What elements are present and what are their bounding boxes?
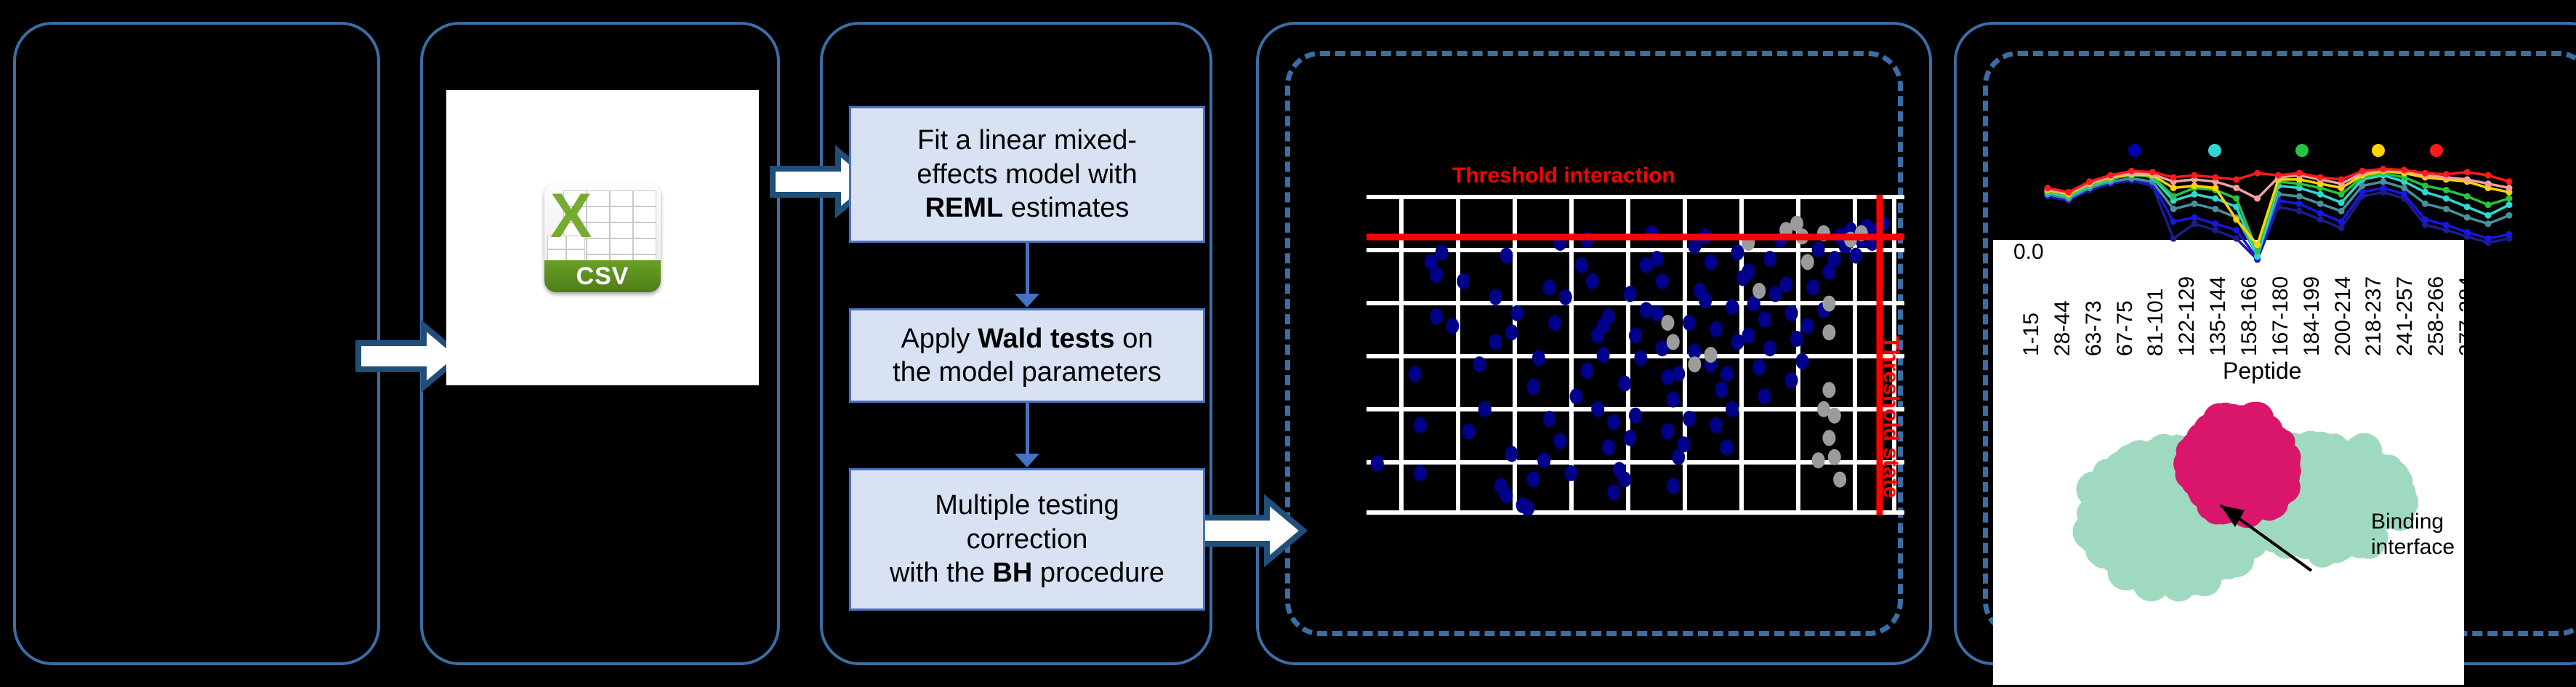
scatter-point [1656, 273, 1669, 289]
scatter-point [1801, 318, 1814, 334]
scatter-point [1822, 430, 1835, 446]
peptide-tick-label: 122-129 [2175, 276, 2199, 356]
scatter-point [1752, 283, 1766, 299]
peptide-series-marker [2212, 196, 2218, 202]
peptide-series-marker [2191, 214, 2198, 221]
peptide-series-marker [2317, 191, 2324, 198]
scatter-point [1758, 388, 1771, 404]
scatter-point [1526, 472, 1539, 488]
peptide-series-marker [2443, 222, 2450, 228]
scatter-point [1500, 488, 1513, 504]
step-box-bh-text: Multiple testingcorrectionwith the BH pr… [890, 489, 1164, 590]
peptide-series-marker [2338, 176, 2345, 182]
peptide-series-marker [2191, 220, 2198, 227]
peptide-series-marker [2296, 201, 2303, 207]
protein-surface-blob [2130, 558, 2154, 581]
scatter-point [1699, 292, 1712, 308]
peptide-series-marker [2401, 191, 2407, 198]
protein-surface-blob [2196, 414, 2218, 437]
binding-interface-line2: interface [2371, 534, 2455, 560]
scatter-point [1790, 331, 1803, 347]
scatter-point [1742, 328, 1755, 344]
peptide-tick-label: 67-75 [2113, 300, 2138, 356]
peptide-series-marker [2506, 196, 2513, 202]
peptide-series-marker [2338, 208, 2345, 214]
scatter-point [1667, 334, 1680, 350]
peptide-series-marker [2464, 176, 2471, 182]
scatter-point [1489, 334, 1502, 350]
protein-surface-blob [2375, 455, 2402, 482]
scatter-point [1543, 280, 1556, 296]
scatter-point [1548, 315, 1561, 331]
peptide-legend-dot [2128, 144, 2141, 157]
scatter-point [1667, 392, 1680, 408]
peptide-legend-dot [2208, 144, 2221, 157]
threshold-scatter-chart [1367, 195, 1904, 515]
scatter-point [1828, 449, 1841, 465]
peptide-series-marker [2212, 185, 2218, 191]
scatter-point [1409, 366, 1422, 382]
peptide-series-marker [2254, 248, 2261, 254]
peptide-tick-label: 200-214 [2331, 276, 2356, 356]
peptide-series-marker [2275, 172, 2282, 179]
peptide-tick-label: 135-144 [2206, 276, 2231, 356]
peptide-series-marker [2422, 201, 2428, 207]
scatter-point [1683, 315, 1696, 331]
binding-interface-line1: Binding [2371, 509, 2455, 534]
step-box-wald[interactable]: Apply Wald tests onthe model parameters [849, 308, 1205, 403]
peptide-series-marker [2212, 174, 2218, 181]
csv-icon: X CSV [544, 183, 661, 292]
peptide-series-marker [2359, 168, 2366, 174]
peptide-series-marker [2443, 171, 2450, 177]
binding-interface-label: Binding interface [2371, 509, 2455, 561]
peptide-series-marker [2170, 236, 2177, 242]
peptide-tick-label: 218-237 [2362, 276, 2386, 356]
peptide-series-marker [2317, 217, 2324, 223]
protein-surface-blob [2226, 425, 2253, 451]
scatter-point [1726, 401, 1739, 417]
peptide-series-marker [2422, 217, 2428, 223]
peptide-series-marker [2191, 182, 2198, 189]
peptide-y-tick-label: 0.0 [2013, 240, 2044, 265]
protein-surface-blob [2107, 493, 2141, 527]
scatter-point [1618, 472, 1631, 488]
scatter-point [1564, 465, 1577, 481]
scatter-point [1715, 382, 1728, 398]
peptide-series-marker [2317, 210, 2324, 217]
scatter-point [1446, 318, 1459, 334]
peptide-legend-dot [2430, 144, 2443, 157]
protein-surface-blob [2247, 497, 2270, 519]
scatter-point [1430, 267, 1443, 283]
peptide-series-marker [2443, 187, 2450, 193]
peptide-series-marker [2233, 236, 2239, 242]
peptide-series-marker [2485, 220, 2492, 227]
peptide-series-marker [2443, 196, 2450, 202]
scatter-point [1570, 388, 1583, 404]
scatter-point [1553, 433, 1566, 449]
scatter-point [1688, 238, 1701, 254]
peptide-series-marker [2338, 225, 2345, 231]
scatter-point [1661, 424, 1674, 440]
peptide-series-marker [2170, 206, 2177, 212]
scatter-point [1704, 254, 1718, 270]
protein-surface-blob [2073, 513, 2110, 550]
scatter-point [1457, 273, 1470, 289]
peptide-series-marker [2338, 199, 2345, 206]
threshold-state-label: Threshold state [1878, 336, 1903, 498]
peptide-uptake-chart [2000, 142, 2524, 265]
scatter-point [1586, 273, 1599, 289]
scatter-point [1822, 324, 1835, 340]
protein-surface-blob [2093, 473, 2118, 497]
peptide-series-marker [2485, 236, 2492, 242]
peptide-series-marker [2338, 218, 2345, 225]
peptide-series-marker [2380, 185, 2386, 191]
peptide-series-marker [2401, 185, 2407, 191]
peptide-series-marker [2107, 172, 2114, 179]
peptide-series-marker [2191, 201, 2198, 207]
scatter-point [1822, 382, 1835, 398]
scatter-point [1720, 440, 1734, 456]
peptide-tick-label: 81-101 [2144, 289, 2168, 356]
scatter-point [1688, 356, 1701, 372]
peptide-tick-label: 1-15 [2019, 313, 2044, 356]
scatter-point [1607, 414, 1620, 430]
step-box-bh[interactable]: Multiple testingcorrectionwith the BH pr… [849, 468, 1205, 611]
scatter-point [1505, 446, 1518, 462]
peptide-series-marker [2065, 189, 2072, 196]
csv-badge: CSV [544, 260, 661, 292]
peptide-series-marker [2254, 196, 2261, 202]
scatter-point [1607, 484, 1620, 500]
peptide-legend-dot [2372, 144, 2385, 157]
peptide-series-marker [2254, 170, 2261, 177]
peptide-tick-label: 167-180 [2269, 276, 2293, 356]
peptide-series-marker [2149, 169, 2156, 175]
scatter-point [1489, 289, 1502, 305]
peptide-series-marker [2191, 191, 2198, 198]
peptide-axis-ticks: 1-1528-4463-7367-7581-101122-129135-1441… [2000, 262, 2524, 356]
scatter-point [1651, 251, 1664, 267]
peptide-series-marker [2233, 227, 2239, 233]
peptide-tick-label: 158-166 [2237, 276, 2262, 356]
scatter-point [1833, 472, 1846, 488]
protein-surface-blob [2219, 554, 2243, 578]
peptide-series-marker [2485, 201, 2492, 208]
scatter-point [1710, 417, 1723, 433]
step-box-reml-text: Fit a linear mixed-effects model withREM… [917, 124, 1137, 225]
peptide-series-marker [2485, 172, 2492, 179]
scatter-point [1763, 340, 1776, 356]
scatter-point [1597, 347, 1610, 363]
threshold-interaction-label: Threshold interaction [1452, 164, 1675, 188]
scatter-point [1795, 353, 1808, 369]
scatter-point [1726, 299, 1739, 315]
peptide-series-marker [2086, 178, 2093, 185]
peptide-series-marker [2464, 169, 2471, 175]
scatter-point [1849, 248, 1862, 264]
peptide-series-marker [2212, 227, 2218, 233]
scatter-point [1624, 430, 1637, 446]
scatter-point [1812, 452, 1825, 468]
peptide-series-marker [2506, 185, 2513, 191]
peptide-series-marker [2170, 193, 2177, 200]
scatter-point [1779, 276, 1792, 292]
step-box-wald-text: Apply Wald tests onthe model parameters [893, 322, 1162, 390]
scatter-point [1651, 305, 1664, 321]
protein-surface-blob [2333, 498, 2353, 518]
peptide-series-marker [2296, 170, 2303, 177]
connector-reml-to-wald [1026, 243, 1029, 297]
scatter-point [1785, 372, 1798, 388]
scatter-point [1532, 350, 1545, 366]
scatter-point [1758, 312, 1771, 328]
scatter-point [1812, 241, 1825, 257]
scatter-point [1559, 289, 1572, 305]
peptide-tick-label: 277-284 [2455, 276, 2480, 356]
peptide-series-marker [2317, 174, 2324, 181]
csv-badge-label: CSV [576, 262, 629, 291]
scatter-point [1785, 305, 1798, 321]
scatter-point [1580, 363, 1593, 379]
protein-structure-image [2064, 378, 2442, 625]
peptide-series-marker [2296, 193, 2303, 200]
peptide-series-marker [2506, 231, 2513, 238]
step-box-reml[interactable]: Fit a linear mixed-effects model withREM… [849, 106, 1205, 243]
arrow-analysis-to-results [1198, 494, 1307, 567]
scatter-point [1752, 360, 1766, 376]
peptide-series-marker [2506, 201, 2513, 208]
scatter-point [1822, 296, 1835, 312]
scatter-point [1763, 251, 1776, 267]
scatter-point [1801, 254, 1814, 270]
scatter-point [1672, 366, 1685, 382]
peptide-series-marker [2338, 191, 2345, 198]
csv-file-image: X CSV [446, 90, 759, 385]
scatter-point [1661, 315, 1674, 331]
scatter-point [1618, 376, 1631, 392]
scatter-point [1602, 308, 1615, 324]
scatter-point [1602, 440, 1615, 456]
peptide-series-marker [2506, 212, 2513, 219]
peptide-series-marker [2212, 220, 2218, 227]
peptide-tick-label: 258-266 [2424, 276, 2449, 356]
peptide-series-marker [2045, 185, 2051, 191]
scatter-point [1591, 401, 1604, 417]
peptide-series-marker [2233, 196, 2239, 202]
peptide-series-marker [2317, 201, 2324, 207]
protein-surface-blob [2237, 452, 2266, 481]
excel-x-glyph: X [550, 185, 589, 247]
scatter-point [1526, 379, 1539, 395]
scatter-point [1828, 408, 1841, 424]
peptide-series-marker [2128, 168, 2135, 174]
scatter-point [1634, 350, 1647, 366]
protein-surface-blob [2202, 461, 2231, 489]
scatter-point [1710, 321, 1723, 337]
panel-input [13, 22, 380, 665]
scatter-point [1667, 478, 1680, 494]
scatter-point [1430, 308, 1443, 324]
peptide-series-marker [2380, 178, 2386, 185]
scatter-point [1704, 347, 1718, 363]
scatter-point [1629, 408, 1642, 424]
scatter-point [1537, 452, 1550, 468]
connector-arrowhead-wald [1015, 294, 1039, 308]
peptide-series-marker [2212, 206, 2218, 212]
peptide-series-marker [2506, 178, 2513, 185]
peptide-series-marker [2401, 166, 2407, 173]
peptide-tick-label: 241-257 [2393, 276, 2418, 356]
peptide-tick-label: 28-44 [2050, 300, 2075, 356]
peptide-series-marker [2422, 189, 2428, 196]
peptide-series-marker [2233, 185, 2239, 191]
peptide-series-marker [2170, 185, 2177, 191]
protein-surface-blob [2269, 488, 2287, 506]
peptide-series-marker [2464, 193, 2471, 200]
protein-surface-blob [2184, 550, 2216, 582]
scatter-point [1720, 366, 1734, 382]
peptide-series-marker [2464, 204, 2471, 210]
scatter-point [1510, 305, 1524, 321]
scatter-point [1414, 465, 1427, 481]
peptide-series-marker [2233, 176, 2239, 182]
scatter-point [1500, 248, 1513, 264]
scatter-point [1478, 401, 1492, 417]
connector-arrowhead-bh [1015, 454, 1039, 467]
peptide-series-marker [2233, 217, 2239, 223]
scatter-point [1742, 264, 1755, 280]
peptide-series-marker [2485, 212, 2492, 219]
scatter-point [1731, 244, 1744, 260]
peptide-series-marker [2170, 174, 2177, 181]
protein-surface-blob [2302, 518, 2336, 552]
peptide-legend-dot [2295, 144, 2309, 157]
scatter-point [1678, 436, 1691, 452]
scatter-point [1629, 328, 1642, 344]
scatter-point [1806, 280, 1819, 296]
scatter-point [1624, 286, 1637, 302]
peptide-series-marker [2464, 229, 2471, 236]
peptide-series-marker [2191, 172, 2198, 179]
scatter-point [1505, 324, 1518, 340]
peptide-tick-label: 63-73 [2082, 300, 2106, 356]
protein-surface-blob [2303, 432, 2338, 467]
peptide-series-marker [2254, 241, 2261, 248]
connector-wald-to-bh [1026, 403, 1029, 457]
scatter-point [1543, 411, 1556, 427]
scatter-point [1371, 456, 1384, 472]
scatter-point [1436, 244, 1449, 260]
peptide-series-marker [2485, 180, 2492, 187]
peptide-series-marker [2422, 182, 2428, 189]
scatter-point [1414, 417, 1427, 433]
scatter-point [1575, 257, 1588, 273]
protein-surface-blob [2151, 459, 2170, 478]
scatter-point [1828, 251, 1841, 267]
peptide-series-marker [2422, 170, 2428, 177]
scatter-point [1768, 286, 1782, 302]
scatter-point [1683, 411, 1696, 427]
scatter-point [1462, 424, 1476, 440]
peptide-series-marker [2380, 166, 2386, 172]
peptide-series-marker [2464, 214, 2471, 221]
peptide-series-marker [2170, 218, 2177, 225]
peptide-series-marker [2296, 208, 2303, 214]
scatter-point [1473, 356, 1486, 372]
peptide-tick-label: 184-199 [2300, 276, 2325, 356]
peptide-series-marker [2443, 206, 2450, 212]
